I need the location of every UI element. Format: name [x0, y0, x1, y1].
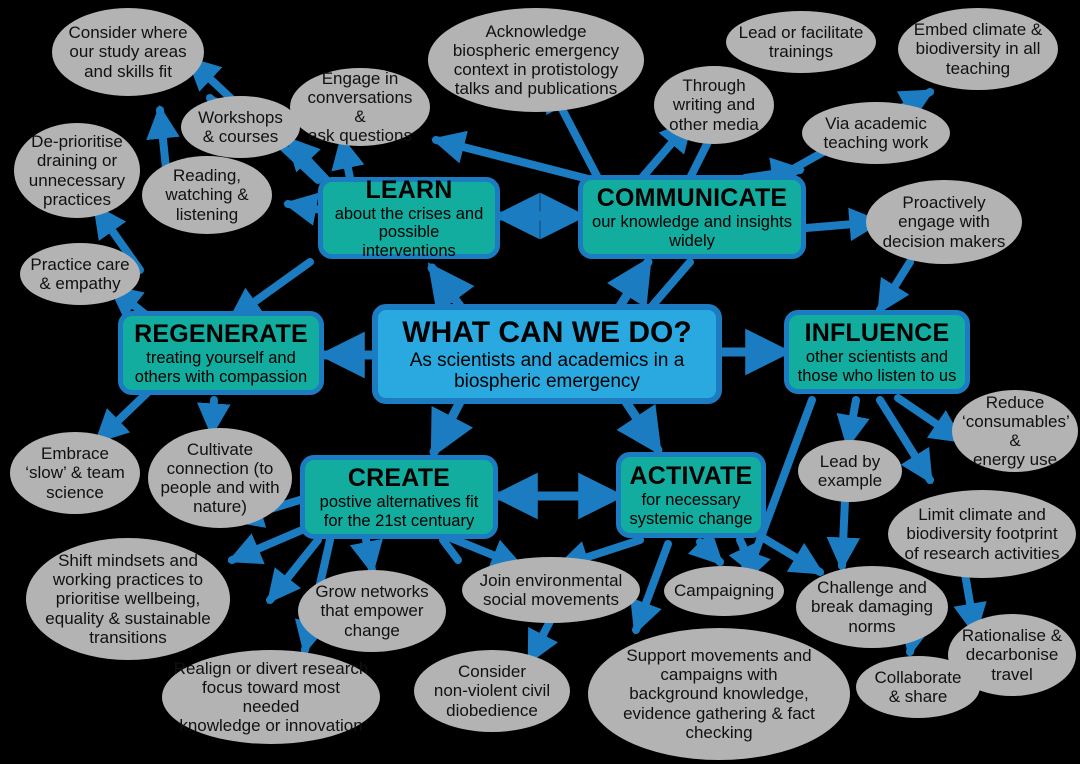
leaf-via-academic-teaching[interactable]: Via academic teaching work: [802, 102, 950, 164]
leaf-text: Challenge and break damaging norms: [806, 578, 938, 635]
hub-learn-sub-1: about the crises and: [335, 205, 484, 223]
leaf-embed-climate-teaching[interactable]: Embed climate & biodiversity in all teac…: [898, 8, 1058, 90]
leaf-cultivate-connection[interactable]: Cultivate connection (to people and with…: [148, 428, 292, 528]
leaf-text: Cultivate connection (to people and with…: [158, 440, 282, 516]
leaf-text: Embrace ‘slow’ & team science: [20, 444, 130, 501]
hub-influence-title: INFLUENCE: [805, 319, 950, 348]
hub-what-can-we-do[interactable]: WHAT CAN WE DO? As scientists and academ…: [372, 304, 722, 404]
hub-communicate-title: COMMUNICATE: [597, 184, 788, 213]
leaf-text: Engage in conversations & ask questions: [300, 69, 420, 145]
centre-title: WHAT CAN WE DO?: [402, 316, 691, 350]
hub-create-sub-1: postive alternatives fit: [320, 493, 479, 511]
leaf-text: Lead or facilitate trainings: [736, 23, 866, 61]
hub-learn-sub-2: possible interventions: [331, 223, 487, 260]
hub-create-title: CREATE: [348, 464, 450, 493]
leaf-engage-conversations[interactable]: Engage in conversations & ask questions: [290, 68, 430, 146]
leaf-text: Consider non-violent civil diobedience: [424, 662, 560, 719]
leaf-acknowledge-context[interactable]: Acknowledge biospheric emergency context…: [428, 8, 644, 112]
leaf-text: Limit climate and biodiversity footprint…: [898, 505, 1066, 562]
hub-regenerate-sub-2: others with compassion: [135, 368, 307, 386]
leaf-de-prioritise-draining[interactable]: De-prioritise draining or unnecessary pr…: [14, 123, 140, 218]
leaf-text: Campaigning: [674, 581, 774, 600]
leaf-consider-civil-disobedience[interactable]: Consider non-violent civil diobedience: [414, 650, 570, 732]
hub-activate-title: ACTIVATE: [630, 462, 753, 491]
leaf-lead-facilitate-trainings[interactable]: Lead or facilitate trainings: [726, 11, 876, 73]
leaf-workshops-courses[interactable]: Workshops & courses: [181, 96, 300, 158]
leaf-text: Grow networks that empower change: [308, 582, 436, 639]
leaf-text: Reduce ‘consumables’ & energy use: [962, 393, 1068, 469]
leaf-proactively-engage[interactable]: Proactively engage with decision makers: [866, 180, 1022, 264]
hub-communicate[interactable]: COMMUNICATE our knowledge and insights w…: [578, 175, 806, 259]
leaf-text: De-prioritise draining or unnecessary pr…: [24, 132, 130, 208]
leaf-embrace-slow-science[interactable]: Embrace ‘slow’ & team science: [10, 432, 140, 514]
leaf-limit-footprint[interactable]: Limit climate and biodiversity footprint…: [888, 490, 1076, 578]
hub-regenerate[interactable]: REGENERATE treating yourself and others …: [118, 311, 324, 395]
hub-regenerate-title: REGENERATE: [134, 320, 308, 349]
centre-sub-line-2: biospheric emergency: [454, 371, 640, 392]
leaf-through-writing-media[interactable]: Through writing and other media: [654, 66, 774, 144]
hub-communicate-sub-2: widely: [669, 232, 715, 250]
leaf-text: Via academic teaching work: [812, 114, 940, 152]
hub-influence-sub-2: those who listen to us: [798, 367, 957, 385]
leaf-text: Acknowledge biospheric emergency context…: [438, 22, 634, 98]
leaf-lead-by-example[interactable]: Lead by example: [798, 440, 902, 502]
hub-create-sub-2: for the 21st centuary: [324, 512, 474, 530]
leaf-consider-study-areas[interactable]: Consider where our study areas and skill…: [52, 8, 204, 96]
leaf-campaigning[interactable]: Campaigning: [664, 566, 784, 616]
leaf-text: Proactively engage with decision makers: [876, 193, 1012, 250]
hub-influence[interactable]: INFLUENCE other scientists and those who…: [784, 310, 970, 394]
leaf-text: Lead by example: [808, 452, 892, 490]
hub-communicate-sub-1: our knowledge and insights: [592, 213, 792, 231]
leaf-join-social-movements[interactable]: Join environmental social movements: [462, 557, 640, 623]
leaf-text: Reading, watching & listening: [152, 166, 262, 223]
leaf-shift-mindsets[interactable]: Shift mindsets and working practices to …: [26, 538, 230, 660]
leaf-realign-research-focus[interactable]: Realign or divert research focus toward …: [162, 650, 380, 744]
leaf-challenge-break-norms[interactable]: Challenge and break damaging norms: [796, 566, 948, 648]
leaf-text: Embed climate & biodiversity in all teac…: [908, 20, 1048, 77]
leaf-grow-networks[interactable]: Grow networks that empower change: [298, 570, 446, 652]
leaf-text: Join environmental social movements: [472, 571, 630, 609]
hub-regenerate-sub-1: treating yourself and: [146, 349, 296, 367]
hub-learn-title: LEARN: [365, 176, 452, 205]
leaf-text: Practice care & empathy: [30, 255, 130, 293]
hub-activate-sub-1: for necessary: [641, 491, 740, 509]
hub-influence-sub-1: other scientists and: [806, 348, 948, 366]
leaf-practice-care-empathy[interactable]: Practice care & empathy: [20, 243, 140, 305]
hub-activate-sub-2: systemic change: [630, 510, 753, 528]
hub-create[interactable]: CREATE postive alternatives fit for the …: [300, 455, 498, 539]
centre-sub-line-1: As scientists and academics in a: [410, 350, 685, 371]
leaf-text: Support movements and campaigns with bac…: [598, 646, 840, 741]
leaf-text: Collaborate & share: [866, 668, 970, 706]
leaf-collaborate-share[interactable]: Collaborate & share: [856, 656, 980, 718]
leaf-support-movements[interactable]: Support movements and campaigns with bac…: [588, 628, 850, 760]
leaf-reduce-consumables[interactable]: Reduce ‘consumables’ & energy use: [952, 390, 1078, 472]
leaf-text: Workshops & courses: [191, 108, 290, 146]
hub-learn[interactable]: LEARN about the crises and possible inte…: [318, 177, 500, 259]
leaf-reading-watching[interactable]: Reading, watching & listening: [142, 156, 272, 234]
leaf-text: Consider where our study areas and skill…: [62, 23, 194, 80]
leaf-text: Shift mindsets and working practices to …: [36, 551, 220, 646]
mindmap-canvas: WHAT CAN WE DO? As scientists and academ…: [0, 0, 1080, 764]
leaf-text: Realign or divert research focus toward …: [172, 659, 370, 735]
hub-activate[interactable]: ACTIVATE for necessary systemic change: [616, 452, 766, 538]
leaf-text: Through writing and other media: [664, 76, 764, 133]
